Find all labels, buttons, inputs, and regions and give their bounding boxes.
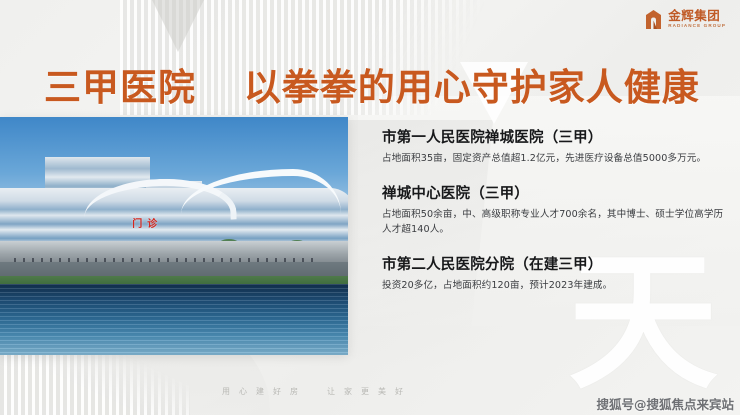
hospital-list: 市第一人民医院禅城医院（三甲） 占地面积35亩，固定资产总值超1.2亿元，先进医… <box>382 126 730 293</box>
page-title-part1: 三甲医院 <box>44 66 196 109</box>
list-item: 禅城中心医院（三甲） 占地面积50余亩，中、高级职称专业人才700余名，其中博士… <box>382 182 730 238</box>
hospital-photo-canvas: 门诊 <box>0 117 348 355</box>
footer-slogan-left: 用心建好房 <box>222 386 307 397</box>
brand-logo: 金辉集团 RADIANCE GROUP <box>644 9 726 30</box>
page-title-part2: 以拳拳的用心守护家人健康 <box>244 66 700 109</box>
footer-slogan: 用心建好房 让家更美好 <box>222 386 412 397</box>
footer-slogan-right: 让家更美好 <box>327 386 412 397</box>
photo-entrance-sign: 门诊 <box>132 215 162 230</box>
logo-cn-text: 金辉集团 <box>668 10 726 23</box>
list-item: 市第一人民医院禅城医院（三甲） 占地面积35亩，固定资产总值超1.2亿元，先进医… <box>382 126 730 167</box>
hospital-description: 占地面积35亩，固定资产总值超1.2亿元，先进医疗设备总值5000多万元。 <box>382 152 730 167</box>
logo-en-text: RADIANCE GROUP <box>668 24 726 29</box>
hospital-name: 禅城中心医院（三甲） <box>382 182 730 203</box>
background-triangle-left <box>150 0 206 52</box>
hospital-name: 市第二人民医院分院（在建三甲） <box>382 253 730 274</box>
hospital-name: 市第一人民医院禅城医院（三甲） <box>382 126 730 147</box>
source-watermark: 搜狐号@搜狐焦点来宾站 <box>596 394 734 413</box>
page-title: 三甲医院 以拳拳的用心守护家人健康 <box>44 57 700 111</box>
hospital-photo: 门诊 <box>0 117 348 355</box>
hospital-description: 投资20多亿，占地面积约120亩，预计2023年建成。 <box>382 279 730 294</box>
list-item: 市第二人民医院分院（在建三甲） 投资20多亿，占地面积约120亩，预计2023年… <box>382 253 730 294</box>
slide-root: 天 金辉集团 RADIANCE GROUP 三甲医院 以拳拳的用心守护家人健康 … <box>0 0 740 415</box>
hospital-description: 占地面积50余亩，中、高级职称专业人才700余名，其中博士、硕士学位高学历人才超… <box>382 208 730 238</box>
radiance-mark-icon <box>644 9 663 30</box>
photo-water <box>0 284 348 355</box>
